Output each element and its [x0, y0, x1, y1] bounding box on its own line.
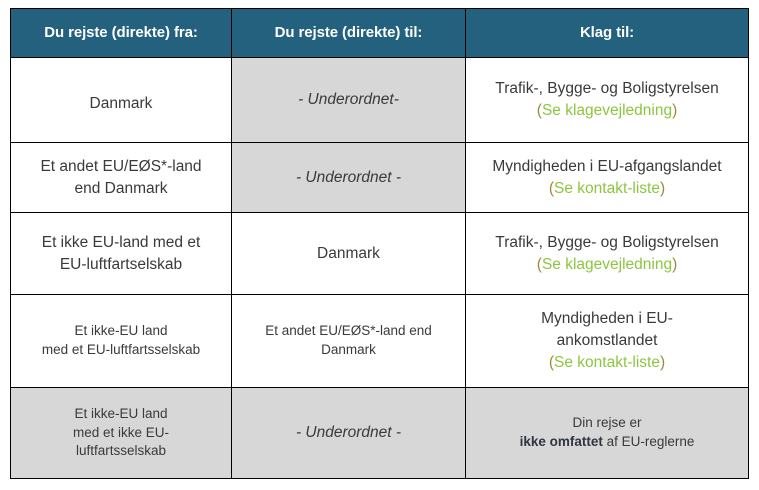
complaint-guidance-link-line[interactable]: (Se klagevejledning): [474, 100, 740, 122]
cell-text-line: Danmark: [19, 93, 223, 115]
passenger-rights-claim-table: Du rejste (direkte) fra: Du rejste (dire…: [10, 8, 749, 479]
cell-departed-from: Et ikke-EU land med et EU-luftfartsselsk…: [11, 295, 232, 388]
claim-table-wrapper: Du rejste (direkte) fra: Du rejste (dire…: [10, 8, 748, 479]
cell-text-line: EU-luftfartselskab: [19, 254, 223, 276]
contact-list-link-line[interactable]: (Se kontakt-liste): [474, 352, 740, 374]
paren-close: ): [660, 354, 665, 371]
complaint-guidance-link-line[interactable]: (Se klagevejledning): [474, 254, 740, 276]
cell-travelled-to: - Underordnet-: [232, 58, 466, 143]
column-header-complain-to-label: Klag til:: [466, 25, 748, 42]
cell-text-line: Et andet EU/EØS*-land: [19, 156, 223, 178]
contact-list-link-line[interactable]: (Se kontakt-liste): [474, 178, 740, 200]
cell-content: Et andet EU/EØS*-land end Danmark: [232, 322, 465, 359]
cell-content: Et andet EU/EØS*-land end Danmark: [11, 156, 231, 200]
table-row: Danmark - Underordnet- Trafik-, Bygge- o…: [11, 58, 749, 143]
cell-content: Din rejse er ikke omfattet af EU-reglern…: [466, 414, 748, 451]
column-header-departed-from-label: Du rejste (direkte) fra:: [11, 25, 231, 42]
cell-travelled-to: - Underordnet -: [232, 143, 466, 213]
cell-complain-to: Din rejse er ikke omfattet af EU-reglern…: [466, 388, 749, 479]
cell-text-line: Et ikke EU-land med et: [19, 232, 223, 254]
cell-departed-from: Danmark: [11, 58, 232, 143]
cell-complain-to: Trafik-, Bygge- og Boligstyrelsen (Se kl…: [466, 58, 749, 143]
cell-travelled-to: Et andet EU/EØS*-land end Danmark: [232, 295, 466, 388]
table-body: Danmark - Underordnet- Trafik-, Bygge- o…: [11, 58, 749, 479]
cell-text-line: - Underordnet -: [240, 422, 457, 444]
cell-travelled-to: Danmark: [232, 213, 466, 295]
cell-content: - Underordnet -: [232, 167, 465, 189]
paren-close: ): [672, 102, 677, 119]
link-se-kontakt-liste[interactable]: Se kontakt-liste: [554, 354, 660, 371]
link-se-klagevejledning[interactable]: Se klagevejledning: [542, 102, 672, 119]
cell-content: Myndigheden i EU- ankomstlandet (Se kont…: [466, 308, 748, 374]
cell-content: Et ikke-EU land med et EU-luftfartsselsk…: [11, 322, 231, 359]
paren-close: ): [660, 180, 665, 197]
not-covered-emphasis: ikke omfattet: [520, 434, 603, 449]
table-header: Du rejste (direkte) fra: Du rejste (dire…: [11, 9, 749, 58]
cell-text-line: end Danmark: [19, 178, 223, 200]
cell-content: Trafik-, Bygge- og Boligstyrelsen (Se kl…: [466, 78, 748, 122]
cell-content: Et ikke EU-land med et EU-luftfartselska…: [11, 232, 231, 276]
cell-text-line: Myndigheden i EU-: [474, 308, 740, 330]
cell-text-line: Et ikke-EU land: [19, 322, 223, 341]
cell-complain-to: Myndigheden i EU-afgangslandet (Se konta…: [466, 143, 749, 213]
table-row: Et ikke-EU land med et ikke EU- luftfart…: [11, 388, 749, 479]
cell-complain-to: Trafik-, Bygge- og Boligstyrelsen (Se kl…: [466, 213, 749, 295]
cell-text-line: Din rejse er: [474, 414, 740, 433]
not-covered-statement: ikke omfattet af EU-reglerne: [474, 433, 740, 452]
column-header-complain-to: Klag til:: [466, 9, 749, 58]
cell-text-line: ankomstlandet: [474, 330, 740, 352]
cell-text-line: Danmark: [240, 341, 457, 360]
cell-content: Trafik-, Bygge- og Boligstyrelsen (Se kl…: [466, 232, 748, 276]
cell-content: Myndigheden i EU-afgangslandet (Se konta…: [466, 156, 748, 200]
link-se-kontakt-liste[interactable]: Se kontakt-liste: [554, 180, 660, 197]
column-header-departed-from: Du rejste (direkte) fra:: [11, 9, 232, 58]
not-covered-tail: af EU-reglerne: [603, 434, 695, 449]
table-row: Et andet EU/EØS*-land end Danmark - Unde…: [11, 143, 749, 213]
cell-departed-from: Et andet EU/EØS*-land end Danmark: [11, 143, 232, 213]
table-row: Et ikke EU-land med et EU-luftfartselska…: [11, 213, 749, 295]
cell-content: Danmark: [11, 86, 231, 115]
cell-departed-from: Et ikke-EU land med et ikke EU- luftfart…: [11, 388, 232, 479]
cell-text-line: Trafik-, Bygge- og Boligstyrelsen: [474, 232, 740, 254]
cell-complain-to: Myndigheden i EU- ankomstlandet (Se kont…: [466, 295, 749, 388]
page-root: Du rejste (direkte) fra: Du rejste (dire…: [0, 0, 759, 490]
cell-text-line: med et ikke EU-: [19, 424, 223, 443]
cell-text-line: Danmark: [240, 243, 457, 265]
cell-departed-from: Et ikke EU-land med et EU-luftfartselska…: [11, 213, 232, 295]
table-row: Et ikke-EU land med et EU-luftfartsselsk…: [11, 295, 749, 388]
cell-travelled-to: - Underordnet -: [232, 388, 466, 479]
cell-text-line: med et EU-luftfartsselskab: [19, 341, 223, 360]
cell-text-line: Myndigheden i EU-afgangslandet: [474, 156, 740, 178]
cell-text-line: - Underordnet-: [240, 89, 457, 111]
cell-content: - Underordnet -: [232, 422, 465, 444]
cell-text-line: Trafik-, Bygge- og Boligstyrelsen: [474, 78, 740, 100]
column-header-travelled-to-label: Du rejste (direkte) til:: [232, 25, 465, 42]
cell-content: - Underordnet-: [232, 89, 465, 111]
column-header-travelled-to: Du rejste (direkte) til:: [232, 9, 466, 58]
cell-text-line: - Underordnet -: [240, 167, 457, 189]
link-se-klagevejledning[interactable]: Se klagevejledning: [542, 256, 672, 273]
table-header-row: Du rejste (direkte) fra: Du rejste (dire…: [11, 9, 749, 58]
cell-content: Et ikke-EU land med et ikke EU- luftfart…: [11, 405, 231, 461]
cell-text-line: luftfartsselskab: [19, 442, 223, 461]
paren-close: ): [672, 256, 677, 273]
cell-content: Danmark: [232, 243, 465, 265]
cell-text-line: Et andet EU/EØS*-land end: [240, 322, 457, 341]
cell-text-line: Et ikke-EU land: [19, 405, 223, 424]
